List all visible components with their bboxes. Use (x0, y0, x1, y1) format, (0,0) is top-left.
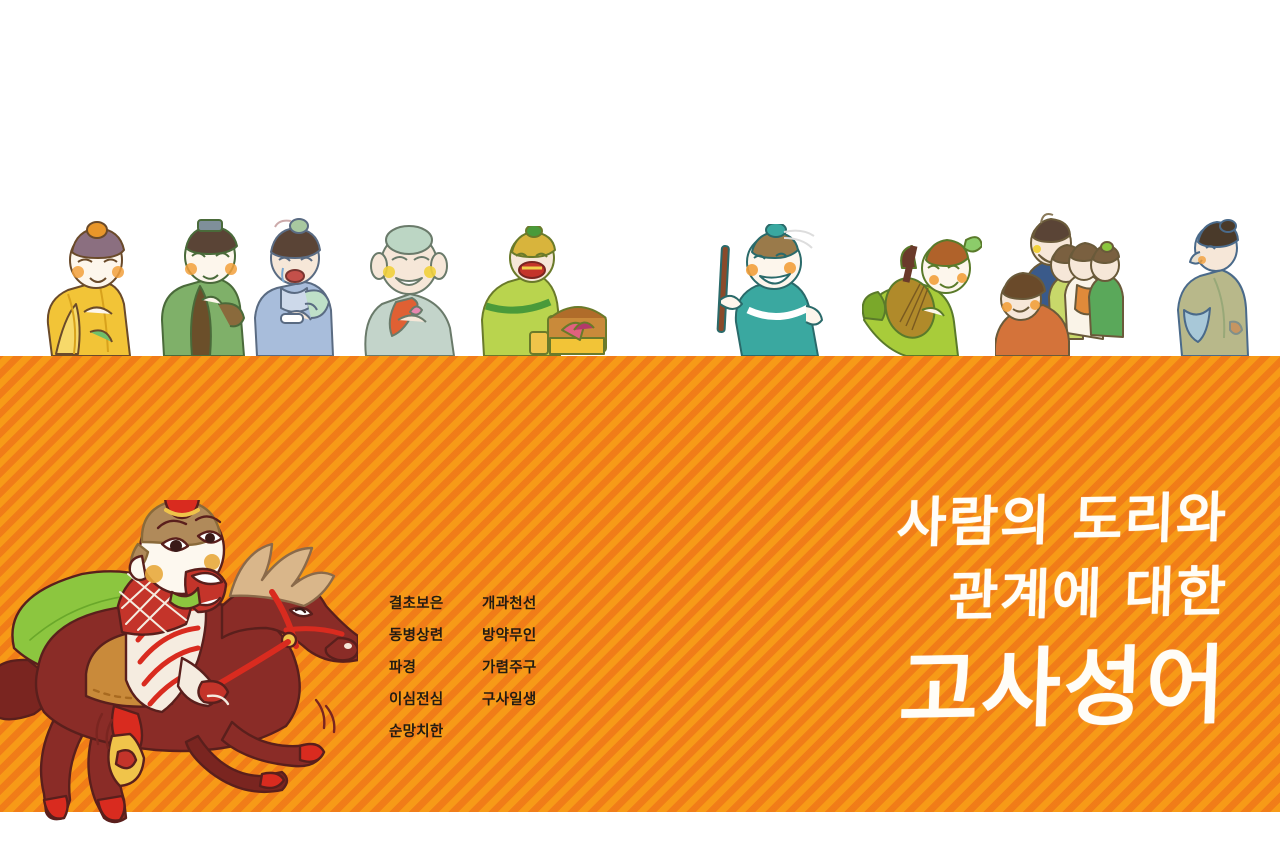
idiom-item: 이심전심 (389, 684, 482, 716)
figure-smiling-monk (352, 216, 468, 356)
figure-bowing-old-man (34, 216, 146, 356)
idiom-item (482, 716, 582, 748)
illustration-band (0, 0, 1280, 356)
idiom-item: 가렴주구 (482, 652, 582, 684)
title-line-1: 사람의 도리와 (896, 482, 1230, 560)
idiom-item: 파경 (389, 652, 482, 684)
idiom-column-1: 결초보은 동병상련 파경 이심전심 순망치한 (389, 588, 482, 748)
figure-running-man-with-stick (714, 224, 834, 356)
idiom-column-2: 개과천선 방약무인 가렴주구 구사일생 (482, 588, 582, 748)
idiom-item: 순망치한 (389, 716, 482, 748)
idiom-item: 방약무인 (482, 620, 582, 652)
horse-rider-illustration (0, 500, 358, 850)
figure-crying-woman-broken-mirror (243, 218, 349, 356)
title-line-2: 관계에 대한 (896, 554, 1230, 636)
idiom-list: 결초보은 동병상련 파경 이심전심 순망치한 개과천선 방약무인 가렴주구 구사… (389, 588, 582, 748)
title-line-3: 고사성어 (895, 634, 1230, 744)
idiom-item: 구사일생 (482, 684, 582, 716)
figure-greedy-official-treasure (470, 226, 608, 356)
figure-sorrowful-crowd (995, 211, 1125, 356)
idiom-item: 결초보은 (389, 588, 482, 620)
book-cover: 결초보은 동병상련 파경 이심전심 순망치한 개과천선 방약무인 가렴주구 구사… (0, 0, 1280, 864)
book-title: 사람의 도리와 관계에 대한 고사성어 (897, 482, 1228, 738)
figure-standing-scholar (1168, 218, 1254, 356)
idiom-item: 개과천선 (482, 588, 582, 620)
idiom-item: 동병상련 (389, 620, 482, 652)
figure-lute-player (862, 226, 982, 356)
